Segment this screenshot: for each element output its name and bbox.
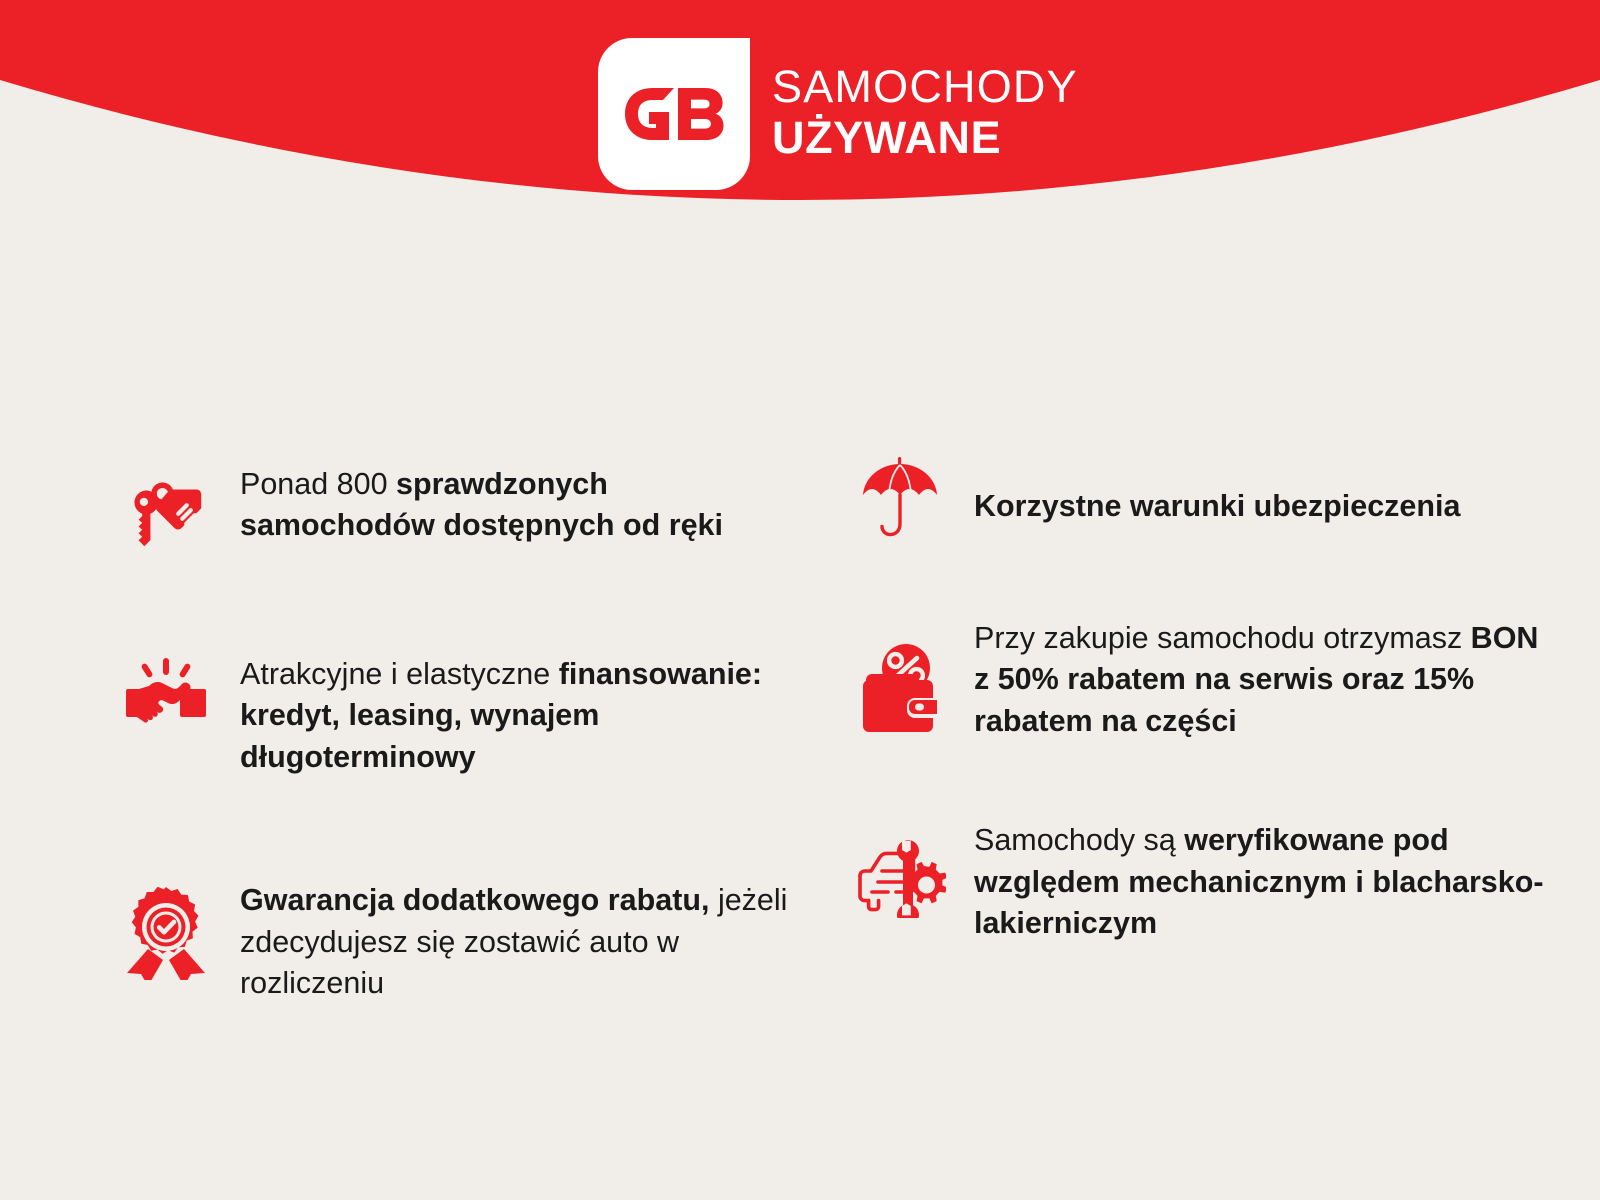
feature-text-cars-available: Ponad 800 sprawdzonych samochodów dostęp… <box>240 462 800 547</box>
umbrella-icon <box>854 456 946 540</box>
features-column-left: Ponad 800 sprawdzonych samochodów dostęp… <box>120 440 840 1005</box>
wordmark-line-1: SAMOCHODY <box>772 64 1078 109</box>
feature-text-bold-part: Korzystne warunki ubezpieczenia <box>974 489 1460 523</box>
wallet-percent-icon <box>854 642 946 734</box>
feature-text-discount-voucher: Przy zakupie samochodu otrzymasz BON z 5… <box>974 616 1560 742</box>
feature-text-light-part: Samochody są <box>974 823 1184 857</box>
feature-item-cars-available: Ponad 800 sprawdzonych samochodów dostęp… <box>120 462 840 556</box>
header-banner: SAMOCHODY UŻYWANE <box>0 0 1600 250</box>
feature-item-insurance: Korzystne warunki ubezpieczenia <box>854 456 1560 540</box>
logo-lockup[interactable]: SAMOCHODY UŻYWANE <box>598 38 1078 190</box>
feature-text-financing: Atrakcyjne i elastyczne finansowanie: kr… <box>240 652 800 778</box>
feature-text-light-part: Atrakcyjne i elastyczne <box>240 657 559 691</box>
feature-item-vehicle-inspection: Samochody są weryfikowane pod względem m… <box>854 818 1560 944</box>
features-grid: Ponad 800 sprawdzonych samochodów dostęp… <box>0 440 1600 1005</box>
award-rosette-check-icon <box>120 886 212 980</box>
feature-item-guarantee: Gwarancja dodatkowego rabatu, jeżeli zde… <box>120 878 840 1004</box>
feature-item-financing: Atrakcyjne i elastyczne finansowanie: kr… <box>120 652 840 778</box>
feature-text-insurance: Korzystne warunki ubezpieczenia <box>974 456 1460 527</box>
car-keys-with-tag-icon <box>120 476 212 556</box>
feature-item-discount-voucher: Przy zakupie samochodu otrzymasz BON z 5… <box>854 616 1560 742</box>
feature-text-light-part: Ponad 800 <box>240 467 396 501</box>
car-wrench-gear-icon <box>854 830 946 918</box>
gb-logo-mark-icon <box>598 38 750 190</box>
logo-wordmark: SAMOCHODY UŻYWANE <box>772 64 1078 164</box>
feature-text-bold-part: Gwarancja dodatkowego rabatu, <box>240 883 709 917</box>
wordmark-line-2: UŻYWANE <box>772 115 1078 160</box>
feature-text-vehicle-inspection: Samochody są weryfikowane pod względem m… <box>974 818 1560 944</box>
feature-text-light-part: Przy zakupie samochodu otrzymasz <box>974 621 1471 655</box>
features-column-right: Korzystne warunki ubezpieczenia <box>840 440 1560 1005</box>
handshake-icon <box>120 658 212 734</box>
feature-text-guarantee: Gwarancja dodatkowego rabatu, jeżeli zde… <box>240 878 800 1004</box>
